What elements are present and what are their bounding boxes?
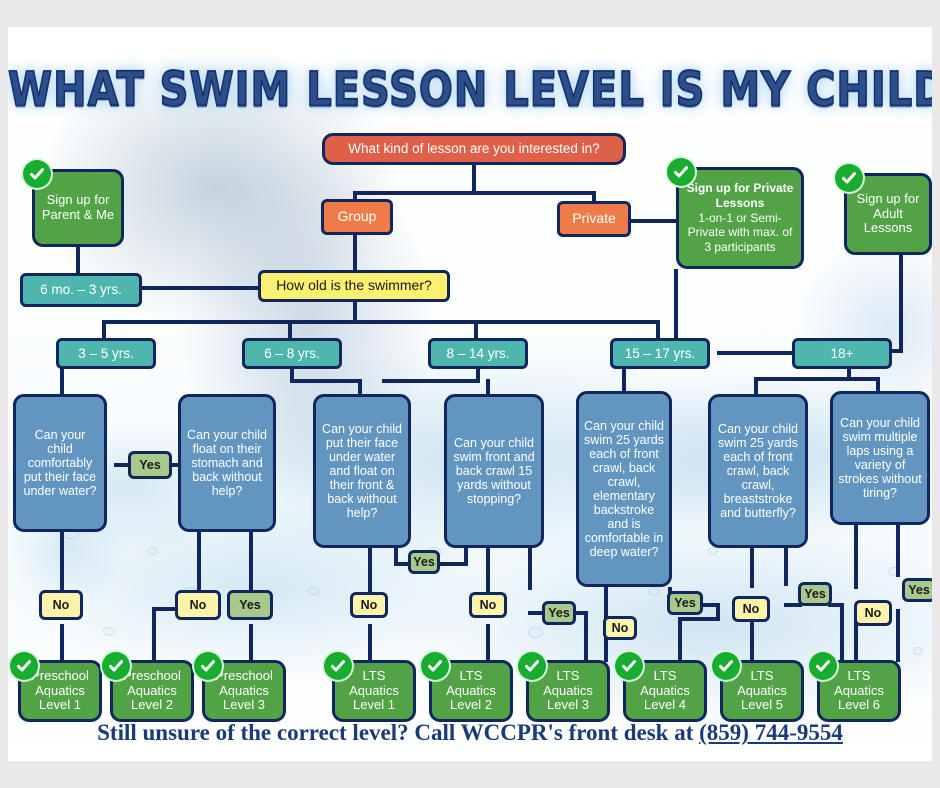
poster-page: WHAT SWIM LESSON LEVEL IS MY CHILD? <box>0 0 940 788</box>
connector-private-to-result <box>630 219 680 223</box>
age-question-node[interactable]: How old is the swimmer? <box>258 270 450 302</box>
skill-question-q2[interactable]: Can your child float on their stomach an… <box>178 394 276 532</box>
skill-question-label: Can your child comfortably put their fac… <box>21 428 99 498</box>
connector-group-stem <box>353 234 357 272</box>
footer-phone[interactable]: (859) 744-9554 <box>699 720 843 745</box>
skill-question-q5[interactable]: Can your child swim 25 yards each of fro… <box>576 391 672 587</box>
connector-q7-no-tail <box>854 621 858 662</box>
skill-question-label: Can your child swim multiple laps using … <box>838 416 922 500</box>
connector-18-to-q6 <box>754 377 758 395</box>
branch-label-text: Yes <box>674 596 696 610</box>
connector-6mo-to-ageq <box>142 286 266 290</box>
connector-3-5-to-q1 <box>60 365 64 395</box>
skill-question-q4[interactable]: Can your child swim front and back crawl… <box>444 394 544 548</box>
connector-q5-no-tail <box>604 637 608 662</box>
age-range-6-8[interactable]: 6 – 8 yrs. <box>242 338 342 369</box>
age-range-8-14[interactable]: 8 – 14 yrs. <box>428 338 528 369</box>
connector-q4-no-stem <box>486 548 490 592</box>
result-label: LTS Aquatics Level 2 <box>435 669 507 713</box>
branch-label-text: No <box>480 598 497 612</box>
connector-q6-no-stem <box>750 548 754 588</box>
age-range-15-17[interactable]: 15 – 17 yrs. <box>610 338 710 369</box>
page-title: WHAT SWIM LESSON LEVEL IS MY CHILD? <box>8 63 932 117</box>
result-adult-label: Sign up for Adult Lessons <box>853 192 923 236</box>
result-parent-me-label: Sign up for Parent & Me <box>41 193 115 222</box>
connector-q7-yes-tail <box>896 609 900 662</box>
skill-question-q1[interactable]: Can your child comfortably put their fac… <box>13 394 107 532</box>
connector-q5-yes-vert <box>716 603 720 621</box>
branch-label-text: No <box>865 606 882 620</box>
age-range-label: 6 – 8 yrs. <box>264 346 320 361</box>
footer-text: Still unsure of the correct level? Call … <box>97 720 699 745</box>
connector-age-bus <box>102 320 660 324</box>
connector-18-bus <box>754 377 880 381</box>
root-question-label: What kind of lesson are you interested i… <box>348 141 599 156</box>
option-group-node[interactable]: Group <box>321 199 393 235</box>
skill-question-q6[interactable]: Can your child swim 25 yards each of fro… <box>708 394 808 548</box>
connector-q2-no-stem <box>197 532 201 592</box>
branch-label-q3-yes[interactable]: Yes <box>408 550 440 574</box>
check-icon-lts-2 <box>421 652 449 680</box>
branch-label-text: No <box>361 598 378 612</box>
connector-6-8-bus <box>290 379 362 383</box>
connector-q3-yes-rdown <box>464 548 468 566</box>
connector-adult-stem <box>899 255 903 353</box>
branch-label-q6-no[interactable]: No <box>732 596 770 622</box>
age-range-label: 15 – 17 yrs. <box>625 346 696 361</box>
branch-label-text: Yes <box>804 587 826 601</box>
age-range-label: 3 – 5 yrs. <box>78 346 134 361</box>
result-label: Preschool Aquatics Level 1 <box>24 669 96 713</box>
connector-q7-yes-stem <box>896 525 900 577</box>
check-icon-preschool-3 <box>194 652 222 680</box>
result-label: LTS Aquatics Level 4 <box>629 669 701 713</box>
branch-label-q2-yes[interactable]: Yes <box>227 590 273 620</box>
skill-question-label: Can your child float on their stomach an… <box>186 428 268 498</box>
option-private-label: Private <box>572 211 616 227</box>
result-label: Preschool Aquatics Level 2 <box>116 669 188 713</box>
branch-label-text: No <box>190 598 207 612</box>
connector-q4-no-tail <box>486 624 490 662</box>
check-icon-parent-me <box>23 160 51 188</box>
branch-label-text: Yes <box>139 458 161 472</box>
connector-q7-no-stem <box>854 525 858 589</box>
root-question-node[interactable]: What kind of lesson are you interested i… <box>322 133 626 165</box>
result-private-title: Sign up for Private Lessons <box>685 181 795 210</box>
check-icon-preschool-1 <box>10 652 38 680</box>
branch-label-text: Yes <box>413 555 435 569</box>
result-label: LTS Aquatics Level 6 <box>823 669 895 713</box>
age-range-3-5[interactable]: 3 – 5 yrs. <box>56 338 156 369</box>
connector-q5-yes-down <box>678 617 682 662</box>
check-icon-lts-6 <box>809 652 837 680</box>
check-icon-lts-5 <box>712 652 740 680</box>
connector-q2-yes-tail <box>249 624 253 662</box>
connector-q6-no-tail <box>750 621 754 662</box>
connector-q4-yes-stem <box>528 548 532 590</box>
connector-6-8-to-q3 <box>358 379 362 395</box>
branch-label-text: No <box>612 621 629 635</box>
branch-label-q1-no[interactable]: No <box>39 590 83 620</box>
skill-question-label: Can your child swim front and back crawl… <box>452 436 536 506</box>
connector-q4-yes-down <box>584 611 588 662</box>
skill-question-q7[interactable]: Can your child swim multiple laps using … <box>830 391 930 525</box>
connector-15-17-to-18 <box>717 351 799 355</box>
skill-question-label: Can your child swim 25 yards each of fro… <box>716 422 800 520</box>
branch-label-q5-yes[interactable]: Yes <box>667 591 703 615</box>
result-label: Preschool Aquatics Level 3 <box>208 669 280 713</box>
branch-label-text: Yes <box>548 606 570 620</box>
result-private-lessons-node[interactable]: Sign up for Private Lessons 1-on-1 or Se… <box>676 167 804 269</box>
skill-question-label: Can your child swim 25 yards each of fro… <box>584 419 664 559</box>
branch-label-q4-no[interactable]: No <box>469 592 507 618</box>
connector-15-17-to-q5 <box>622 365 626 393</box>
connector-parentme-stem <box>76 245 80 275</box>
branch-label-text: Yes <box>239 598 261 612</box>
branch-label-q4-yes[interactable]: Yes <box>542 601 576 625</box>
result-label: LTS Aquatics Level 1 <box>338 669 410 713</box>
connector-privres-stem <box>674 269 678 341</box>
skill-question-q3[interactable]: Can your child put their face under wate… <box>313 394 411 548</box>
skill-question-label: Can your child put their face under wate… <box>321 422 403 520</box>
option-private-node[interactable]: Private <box>557 201 631 237</box>
connector-root-stem <box>472 165 476 193</box>
connector-q2-no-down <box>152 607 156 662</box>
branch-label-q3-no[interactable]: No <box>350 592 388 618</box>
age-question-label: How old is the swimmer? <box>276 278 432 294</box>
connector-q1-no-stem <box>60 532 64 592</box>
age-range-label: 8 – 14 yrs. <box>446 346 509 361</box>
branch-label-q2-no[interactable]: No <box>175 590 221 620</box>
branch-label-q5-no[interactable]: No <box>603 616 637 640</box>
check-icon-preschool-2 <box>102 652 130 680</box>
branch-label-text: No <box>53 598 70 612</box>
branch-label-text: Yes <box>908 583 930 597</box>
age-range-label: 6 mo. – 3 yrs. <box>40 282 122 297</box>
check-icon-lts-4 <box>615 652 643 680</box>
flowchart-canvas: WHAT SWIM LESSON LEVEL IS MY CHILD? <box>8 27 932 761</box>
branch-label-q1-yes[interactable]: Yes <box>128 451 172 479</box>
option-group-label: Group <box>338 209 377 225</box>
age-range-6mo-3yrs[interactable]: 6 mo. – 3 yrs. <box>20 273 142 307</box>
check-icon-adult-lessons <box>835 164 863 192</box>
result-label: LTS Aquatics Level 3 <box>532 669 604 713</box>
connector-q3-no-stem <box>368 548 372 592</box>
check-icon-lts-1 <box>324 652 352 680</box>
footer-contact: Still unsure of the correct level? Call … <box>8 720 932 746</box>
age-range-18plus[interactable]: 18+ <box>792 338 892 369</box>
result-label: LTS Aquatics Level 5 <box>726 669 798 713</box>
branch-label-text: No <box>743 602 760 616</box>
connector-8-14-bus <box>382 379 480 383</box>
branch-label-q7-no[interactable]: No <box>854 600 892 626</box>
check-icon-lts-3 <box>518 652 546 680</box>
branch-label-q6-yes[interactable]: Yes <box>798 582 832 606</box>
connector-q3-no-tail <box>368 624 372 662</box>
connector-q5-yes-join <box>678 617 720 621</box>
connector-8-14-to-q4 <box>486 379 490 395</box>
connector-q1-no-tail <box>60 624 64 662</box>
branch-label-q7-yes[interactable]: Yes <box>902 578 932 602</box>
connector-q2-yes-stem <box>249 532 253 592</box>
check-icon-private-lessons <box>667 158 695 186</box>
connector-q6-yes-down <box>840 603 844 662</box>
connector-q6-yes-stem <box>784 548 788 586</box>
age-range-label: 18+ <box>831 346 854 361</box>
connector-root-split <box>353 191 596 195</box>
result-private-body: 1-on-1 or Semi-Private with max. of 3 pa… <box>685 211 795 255</box>
